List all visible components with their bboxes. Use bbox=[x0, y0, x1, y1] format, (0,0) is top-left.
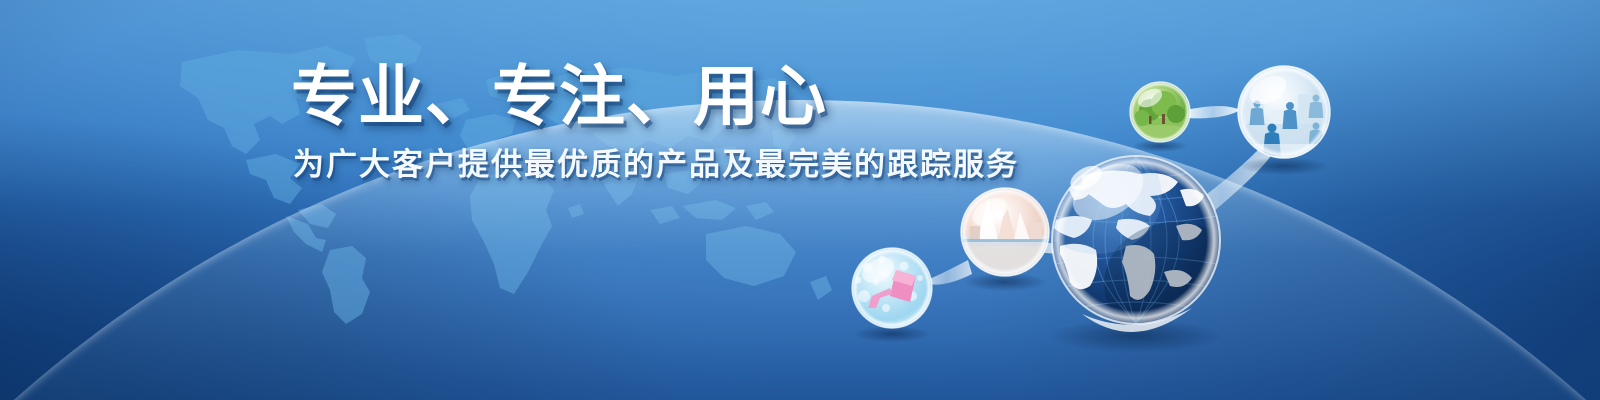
sphere-industry bbox=[961, 188, 1049, 276]
sphere-cluster-graphic bbox=[820, 40, 1380, 370]
sphere-product bbox=[852, 248, 932, 328]
promotional-banner: 专业、专注、用心 为广大客户提供最优质的产品及最完美的跟踪服务 bbox=[0, 0, 1600, 400]
main-earth-globe bbox=[1030, 138, 1248, 346]
sphere-nature bbox=[1130, 82, 1190, 142]
sphere-people bbox=[1238, 66, 1330, 158]
people-globe-shadow bbox=[1240, 157, 1328, 175]
